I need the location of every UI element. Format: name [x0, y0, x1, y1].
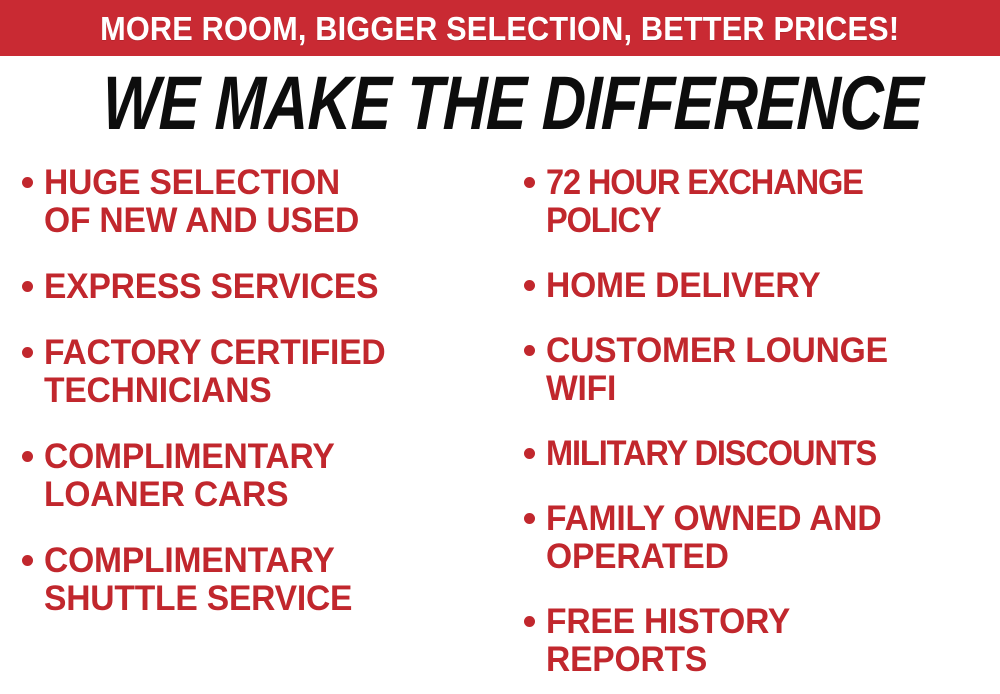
list-item: COMPLIMENTARY LOANER CARS [22, 438, 500, 514]
list-item: FAMILY OWNED AND OPERATED [524, 500, 1000, 576]
list-item: HUGE SELECTION OF NEW AND USED [22, 164, 500, 240]
list-item-label: EXPRESS SERVICES [44, 268, 378, 306]
list-item: CUSTOMER LOUNGE WIFI [524, 332, 1000, 408]
bullet-dot-icon [524, 280, 535, 291]
list-item: COMPLIMENTARY SHUTTLE SERVICE [22, 542, 500, 618]
bullet-dot-icon [524, 513, 535, 524]
bullet-dot-icon [22, 555, 33, 566]
list-item-label: HOME DELIVERY [546, 267, 820, 305]
bullet-dot-icon [524, 616, 535, 627]
list-item: FREE HISTORY REPORTS [524, 603, 1000, 679]
bullet-dot-icon [22, 347, 33, 358]
list-item: FACTORY CERTIFIED TECHNICIANS [22, 334, 500, 410]
bullet-dot-icon [524, 448, 535, 459]
list-item-label: FAMILY OWNED AND OPERATED [546, 500, 881, 576]
top-promo-banner: MORE ROOM, BIGGER SELECTION, BETTER PRIC… [0, 0, 1000, 56]
list-item-label: COMPLIMENTARY SHUTTLE SERVICE [44, 542, 352, 618]
list-item: MILITARY DISCOUNTS [524, 435, 1000, 473]
bullet-dot-icon [524, 345, 535, 356]
bullet-dot-icon [524, 177, 535, 188]
bullet-dot-icon [22, 451, 33, 462]
list-item-label: FACTORY CERTIFIED TECHNICIANS [44, 334, 385, 410]
list-item-label: CUSTOMER LOUNGE WIFI [546, 332, 888, 408]
list-item: HOME DELIVERY [524, 267, 1000, 305]
promo-banner-text: MORE ROOM, BIGGER SELECTION, BETTER PRIC… [100, 12, 899, 45]
benefits-column-left: HUGE SELECTION OF NEW AND USED EXPRESS S… [0, 164, 500, 646]
headline: WE MAKE THE DIFFERENCE [0, 66, 1000, 142]
bullet-dot-icon [22, 281, 33, 292]
bullet-dot-icon [22, 177, 33, 188]
list-item-label: COMPLIMENTARY LOANER CARS [44, 438, 335, 514]
list-item-label: HUGE SELECTION OF NEW AND USED [44, 164, 359, 240]
benefits-column-right: 72 HOUR EXCHANGE POLICY HOME DELIVERY CU… [500, 164, 1000, 694]
list-item-label: FREE HISTORY REPORTS [546, 603, 790, 679]
advertisement-banner: MORE ROOM, BIGGER SELECTION, BETTER PRIC… [0, 0, 1000, 694]
list-item-label: MILITARY DISCOUNTS [546, 435, 876, 473]
list-item-label: 72 HOUR EXCHANGE POLICY [546, 164, 863, 240]
list-item: EXPRESS SERVICES [22, 268, 500, 306]
benefits-columns: HUGE SELECTION OF NEW AND USED EXPRESS S… [0, 164, 1000, 694]
list-item: 72 HOUR EXCHANGE POLICY [524, 164, 1000, 240]
headline-text: WE MAKE THE DIFFERENCE [101, 66, 923, 142]
